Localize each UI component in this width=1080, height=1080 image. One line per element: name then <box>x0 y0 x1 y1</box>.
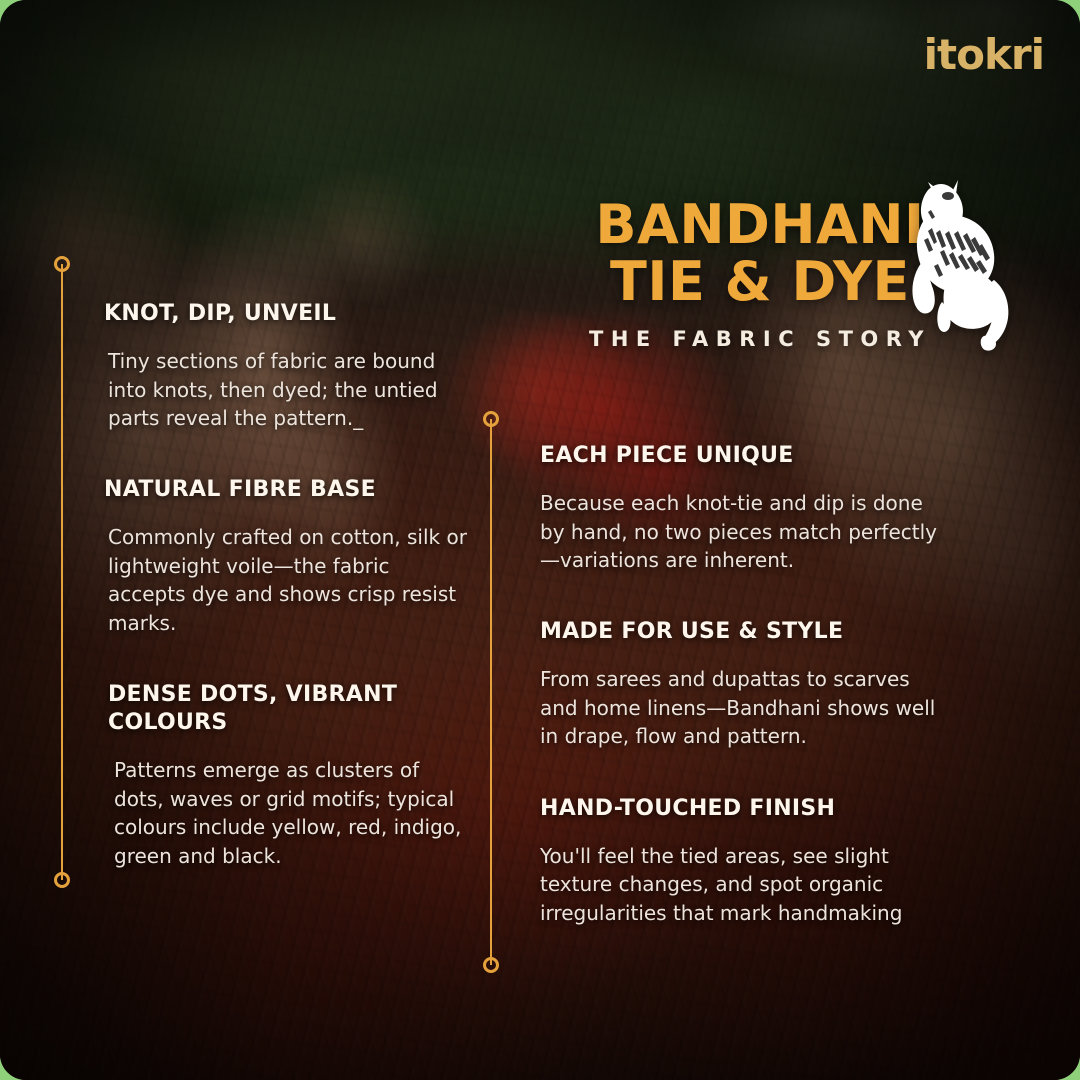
left-content-column: KNOT, DIP, UNVEIL Tiny sections of fabri… <box>104 300 472 870</box>
rail-dot-bottom-icon <box>483 957 499 973</box>
fact-block: NATURAL FIBRE BASE Commonly crafted on c… <box>104 476 472 637</box>
brand-logo[interactable]: itokri <box>924 34 1044 76</box>
infographic-poster: itokri BANDHANI TIE & DYE THE FABRIC STO… <box>0 0 1080 1080</box>
fact-heading: DENSE DOTS, VIBRANT COLOURS <box>104 681 472 737</box>
fact-block: DENSE DOTS, VIBRANT COLOURS Patterns eme… <box>104 681 472 870</box>
fact-body: From sarees and dupattas to scarves and … <box>540 665 940 750</box>
right-content-column: EACH PIECE UNIQUE Because each knot-tie … <box>540 442 940 927</box>
rail-stem <box>61 264 63 880</box>
connector-rail-right <box>483 411 499 973</box>
fact-heading: MADE FOR USE & STYLE <box>540 618 940 646</box>
fact-heading: HAND-TOUCHED FINISH <box>540 795 940 823</box>
fact-heading: KNOT, DIP, UNVEIL <box>104 300 472 328</box>
fact-body: You'll feel the tied areas, see slight t… <box>540 842 940 927</box>
fact-heading: EACH PIECE UNIQUE <box>540 442 940 470</box>
cat-illustration-icon <box>898 176 1020 352</box>
connector-rail-left <box>54 256 70 888</box>
fact-block: EACH PIECE UNIQUE Because each knot-tie … <box>540 442 940 574</box>
fact-body: Tiny sections of fabric are bound into k… <box>104 347 472 432</box>
rail-stem <box>490 419 492 965</box>
fact-block: MADE FOR USE & STYLE From sarees and dup… <box>540 618 940 750</box>
fact-body: Commonly crafted on cotton, silk or ligh… <box>104 523 472 637</box>
rail-dot-bottom-icon <box>54 872 70 888</box>
fact-block: HAND-TOUCHED FINISH You'll feel the tied… <box>540 795 940 927</box>
fact-body: Because each knot-tie and dip is done by… <box>540 489 940 574</box>
fact-block: KNOT, DIP, UNVEIL Tiny sections of fabri… <box>104 300 472 432</box>
fact-body: Patterns emerge as clusters of dots, wav… <box>104 756 472 870</box>
fact-heading: NATURAL FIBRE BASE <box>104 476 472 504</box>
